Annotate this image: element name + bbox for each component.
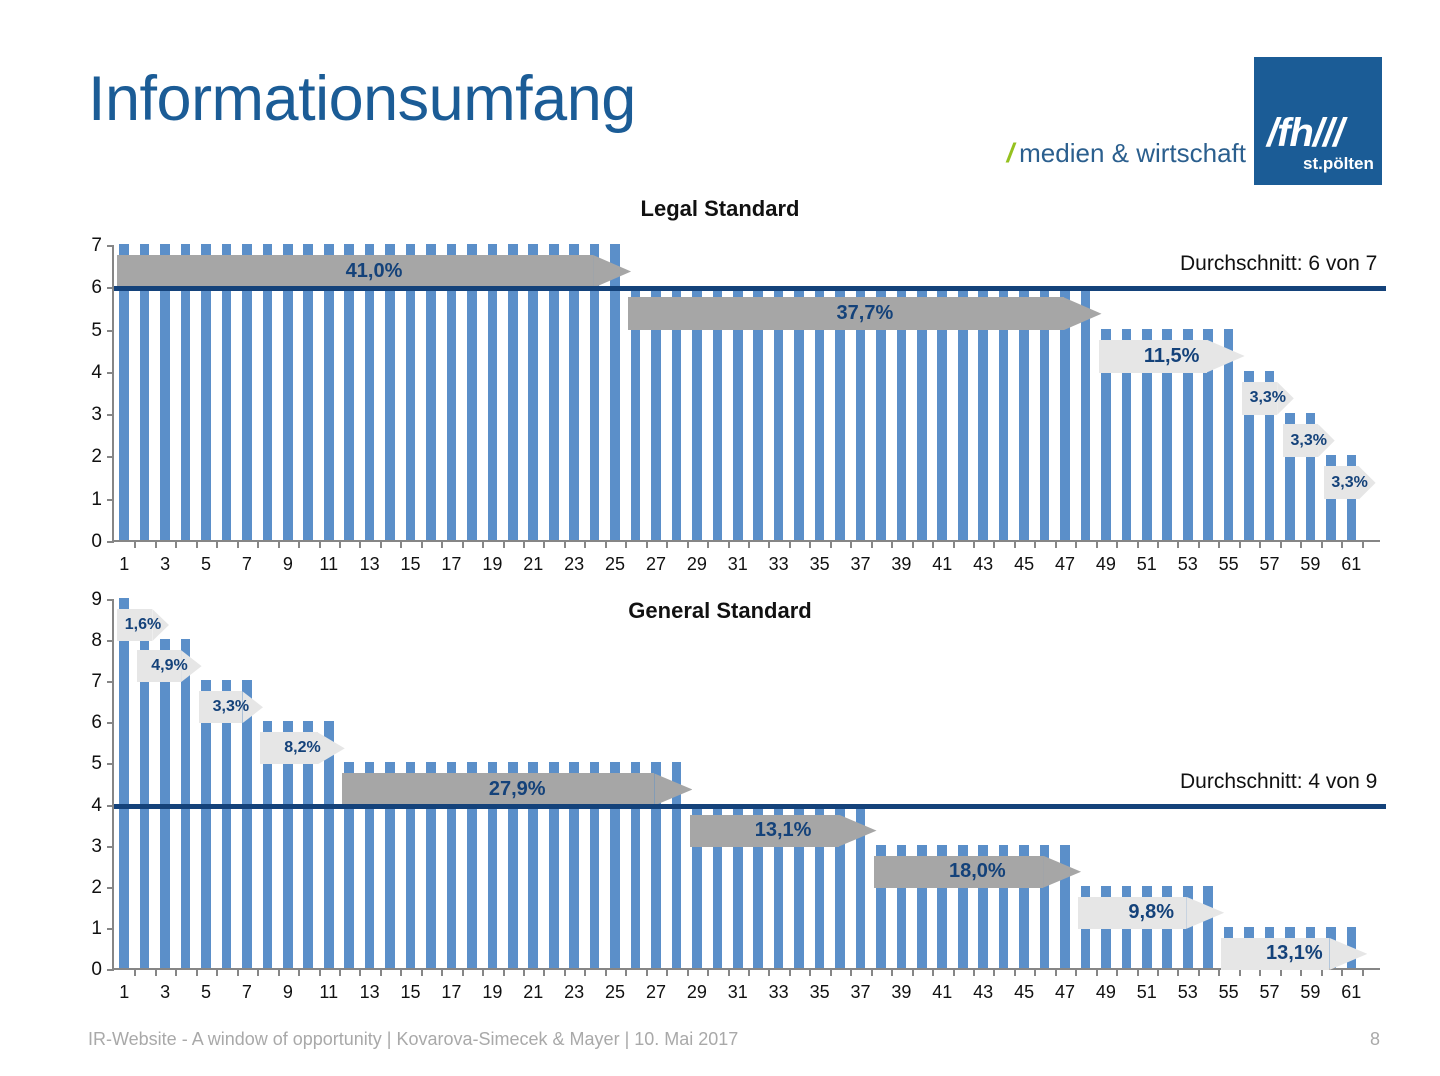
x-axis-tick-label: 29 — [687, 554, 707, 575]
x-axis-tick-mark — [196, 968, 198, 976]
page-title: Informationsumfang — [88, 66, 636, 132]
x-axis-tick-mark — [257, 968, 259, 976]
x-axis-tick-mark — [912, 540, 914, 548]
x-axis-tick-label: 51 — [1137, 554, 1157, 575]
x-axis-tick-mark — [257, 540, 259, 548]
x-axis-tick-label: 45 — [1014, 554, 1034, 575]
x-axis-tick-mark — [1055, 968, 1057, 976]
x-axis-tick-mark — [728, 968, 730, 976]
y-axis-tick-mark — [107, 969, 114, 971]
x-axis-tick-mark — [216, 540, 218, 548]
x-axis-tick-label: 39 — [891, 554, 911, 575]
x-axis-tick-label: 41 — [932, 982, 952, 1003]
slide: Informationsumfang / medien & wirtschaft… — [0, 0, 1440, 1076]
x-axis-tick-mark — [380, 968, 382, 976]
x-axis-tick-label: 33 — [769, 554, 789, 575]
y-axis-tick-mark — [107, 763, 114, 765]
x-axis-tick-label: 53 — [1178, 554, 1198, 575]
y-axis-tick-mark — [107, 681, 114, 683]
percentage-label: 4,9% — [151, 657, 187, 675]
x-axis-tick-label: 57 — [1260, 554, 1280, 575]
arrow-head-icon — [839, 815, 877, 847]
x-axis-tick-mark — [1177, 968, 1179, 976]
percentage-callout-arrow: 3,3% — [199, 691, 263, 723]
chart-legal-standard: Legal Standard 01234567 1357911131517192… — [0, 196, 1440, 586]
x-axis-tick-mark — [1362, 540, 1364, 548]
x-axis-tick-mark — [543, 968, 545, 976]
x-axis-tick-mark — [134, 540, 136, 548]
x-axis-tick-label: 13 — [360, 554, 380, 575]
x-axis-tick-mark — [175, 540, 177, 548]
page-number: 8 — [1370, 1029, 1380, 1050]
x-axis-tick-mark — [1034, 968, 1036, 976]
x-axis-tick-mark — [809, 540, 811, 548]
y-axis-tick-mark — [107, 722, 114, 724]
y-axis-tick-mark — [107, 887, 114, 889]
x-axis-tick-mark — [1218, 540, 1220, 548]
x-axis-tick-label: 3 — [160, 982, 170, 1003]
percentage-callout-arrow: 3,3% — [1283, 424, 1335, 457]
x-axis-tick-mark — [482, 540, 484, 548]
x-axis-tick-mark — [1280, 540, 1282, 548]
x-axis-tick-label: 7 — [242, 982, 252, 1003]
x-axis-tick-mark — [237, 540, 239, 548]
percentage-callout-arrow: 9,8% — [1078, 897, 1224, 929]
x-axis-tick-label: 35 — [810, 554, 830, 575]
x-axis-tick-label: 55 — [1219, 554, 1239, 575]
y-axis-tick-mark — [107, 372, 114, 374]
x-axis-tick-mark — [216, 968, 218, 976]
percentage-callout-arrow: 8,2% — [260, 732, 345, 764]
x-axis-tick-mark — [666, 968, 668, 976]
percentage-label: 3,3% — [213, 698, 249, 716]
x-axis-tick-mark — [707, 540, 709, 548]
x-axis-tick-mark — [462, 968, 464, 976]
x-axis-tick-mark — [421, 540, 423, 548]
percentage-label: 37,7% — [837, 302, 894, 325]
x-axis-tick-mark — [523, 968, 525, 976]
x-axis-tick-mark — [1116, 968, 1118, 976]
x-axis-tick-label: 55 — [1219, 982, 1239, 1003]
percentage-callout-arrow: 1,6% — [117, 609, 169, 641]
x-axis-tick-mark — [891, 540, 893, 548]
x-axis-tick-mark — [1137, 968, 1139, 976]
percentage-label: 41,0% — [346, 260, 403, 283]
x-axis-tick-label: 33 — [769, 982, 789, 1003]
x-axis-tick-label: 61 — [1341, 982, 1361, 1003]
x-axis-tick-label: 27 — [646, 982, 666, 1003]
x-axis-tick-mark — [687, 968, 689, 976]
x-axis-tick-label: 9 — [283, 554, 293, 575]
percentage-callout-arrow: 13,1% — [690, 815, 877, 847]
x-axis-tick-mark — [953, 540, 955, 548]
x-axis-tick-mark — [155, 540, 157, 548]
x-axis-tick-mark — [891, 968, 893, 976]
percentage-label: 13,1% — [755, 819, 812, 842]
x-axis-tick-mark — [482, 968, 484, 976]
x-axis-tick-mark — [1239, 540, 1241, 548]
x-axis-tick-label: 21 — [523, 554, 543, 575]
x-axis-tick-mark — [912, 968, 914, 976]
percentage-label: 3,3% — [1331, 474, 1367, 492]
percentage-callout-arrow: 37,7% — [628, 297, 1101, 330]
x-axis-tick-mark — [789, 968, 791, 976]
y-axis-tick-mark — [107, 805, 114, 807]
x-axis-tick-mark — [278, 540, 280, 548]
x-axis-tick-label: 15 — [401, 982, 421, 1003]
bar — [201, 680, 211, 968]
x-axis-tick-label: 59 — [1300, 982, 1320, 1003]
percentage-callout-arrow: 41,0% — [117, 255, 631, 288]
x-axis-tick-label: 11 — [319, 554, 338, 575]
x-axis-tick-mark — [993, 540, 995, 548]
percentage-callout-arrow: 3,3% — [1242, 382, 1294, 415]
green-slash-icon: / — [1007, 138, 1015, 169]
x-axis-tick-mark — [543, 540, 545, 548]
x-axis-tick-label: 1 — [119, 554, 129, 575]
x-axis-tick-mark — [646, 540, 648, 548]
bar — [242, 680, 252, 968]
x-axis-tick-mark — [1300, 540, 1302, 548]
arrow-head-icon — [654, 773, 692, 805]
percentage-label: 9,8% — [1128, 901, 1174, 924]
x-axis-tick-label: 23 — [564, 554, 584, 575]
x-axis-tick-label: 25 — [605, 982, 625, 1003]
x-axis-tick-mark — [319, 540, 321, 548]
x-axis-tick-mark — [462, 540, 464, 548]
x-axis-tick-mark — [441, 968, 443, 976]
percentage-callout-arrow: 11,5% — [1099, 340, 1245, 373]
x-axis-tick-label: 49 — [1096, 982, 1116, 1003]
footer-text: IR-Website - A window of opportunity | K… — [88, 1029, 738, 1050]
percentage-callout-arrow: 27,9% — [342, 773, 693, 805]
arrow-head-icon — [318, 732, 345, 764]
x-axis-tick-label: 23 — [564, 982, 584, 1003]
y-axis-tick-mark — [107, 414, 114, 416]
chart-general-standard: General Standard 0123456789 135791113151… — [0, 590, 1440, 990]
x-axis-tick-mark — [175, 968, 177, 976]
x-axis-tick-mark — [584, 540, 586, 548]
x-axis-tick-mark — [196, 540, 198, 548]
y-axis-tick-mark — [107, 846, 114, 848]
bar — [222, 680, 232, 968]
percentage-label: 27,9% — [489, 778, 546, 801]
x-axis-tick-label: 39 — [891, 982, 911, 1003]
x-axis-tick-label: 37 — [850, 982, 870, 1003]
arrow-head-icon — [1064, 297, 1102, 330]
x-axis-tick-mark — [768, 968, 770, 976]
x-axis-tick-mark — [319, 968, 321, 976]
x-axis-tick-label: 7 — [242, 554, 252, 575]
x-axis-tick-mark — [564, 540, 566, 548]
percentage-label: 13,1% — [1266, 942, 1323, 965]
chart-title-0: Legal Standard — [0, 196, 1440, 222]
x-axis-tick-mark — [1341, 540, 1343, 548]
x-axis-tick-label: 21 — [523, 982, 543, 1003]
plot-area-0: 01234567 1357911131517192123252729313335… — [112, 246, 1380, 542]
x-axis-tick-mark — [400, 540, 402, 548]
y-axis-tick-mark — [107, 640, 114, 642]
x-axis-tick-mark — [666, 540, 668, 548]
x-axis-tick-label: 35 — [810, 982, 830, 1003]
average-line — [114, 804, 1386, 809]
x-axis-tick-label: 31 — [728, 554, 748, 575]
x-axis-tick-label: 19 — [482, 554, 502, 575]
arrow-head-icon — [1043, 856, 1081, 888]
percentage-label: 11,5% — [1144, 345, 1200, 368]
x-axis-tick-mark — [789, 540, 791, 548]
x-axis-tick-mark — [278, 968, 280, 976]
x-axis-tick-label: 59 — [1300, 554, 1320, 575]
y-axis-tick-mark — [107, 599, 114, 601]
logo-mark-text: /fh/// — [1267, 113, 1343, 153]
x-axis-tick-mark — [421, 968, 423, 976]
y-axis-tick-mark — [107, 330, 114, 332]
x-axis-tick-label: 47 — [1055, 982, 1075, 1003]
percentage-callout-arrow: 3,3% — [1324, 466, 1376, 499]
x-axis-tick-label: 41 — [932, 554, 952, 575]
logo-tagline: / medien & wirtschaft — [1007, 138, 1246, 169]
x-axis-tick-label: 11 — [319, 982, 338, 1003]
x-axis-tick-label: 43 — [973, 982, 993, 1003]
x-axis-tick-label: 15 — [401, 554, 421, 575]
percentage-label: 3,3% — [1250, 389, 1286, 407]
x-axis-tick-mark — [1116, 540, 1118, 548]
x-axis-tick-mark — [359, 540, 361, 548]
x-axis-tick-label: 19 — [482, 982, 502, 1003]
x-axis-tick-mark — [625, 540, 627, 548]
percentage-label: 1,6% — [125, 616, 161, 634]
x-axis-tick-mark — [523, 540, 525, 548]
x-axis-tick-label: 51 — [1137, 982, 1157, 1003]
x-axis-tick-mark — [830, 540, 832, 548]
x-axis-tick-label: 25 — [605, 554, 625, 575]
x-axis-tick-label: 5 — [201, 982, 211, 1003]
x-axis-tick-mark — [564, 968, 566, 976]
x-axis-tick-mark — [400, 968, 402, 976]
x-axis-tick-label: 43 — [973, 554, 993, 575]
x-axis-tick-mark — [1096, 968, 1098, 976]
x-axis-tick-mark — [768, 540, 770, 548]
x-axis-tick-label: 47 — [1055, 554, 1075, 575]
x-axis-tick-mark — [646, 968, 648, 976]
x-axis-tick-label: 13 — [360, 982, 380, 1003]
x-axis-tick-mark — [748, 540, 750, 548]
x-axis-tick-mark — [503, 540, 505, 548]
x-axis-tick-mark — [1137, 540, 1139, 548]
x-axis-tick-mark — [973, 540, 975, 548]
y-axis-tick-mark — [107, 928, 114, 930]
x-axis-tick-mark — [1034, 540, 1036, 548]
bar — [119, 598, 129, 968]
arrow-head-icon — [593, 255, 631, 288]
x-axis-tick-mark — [973, 968, 975, 976]
x-axis-tick-mark — [871, 968, 873, 976]
percentage-label: 3,3% — [1290, 432, 1326, 450]
x-axis-tick-label: 37 — [850, 554, 870, 575]
logo-box: /fh/// st.pölten — [1254, 57, 1382, 185]
x-axis-tick-mark — [1157, 540, 1159, 548]
x-axis-tick-mark — [1014, 968, 1016, 976]
x-axis-tick-mark — [728, 540, 730, 548]
x-axis-tick-label: 17 — [441, 554, 461, 575]
x-axis-tick-mark — [809, 968, 811, 976]
x-axis-tick-label: 27 — [646, 554, 666, 575]
x-axis-tick-mark — [830, 968, 832, 976]
x-axis-tick-mark — [584, 968, 586, 976]
x-axis-tick-mark — [1157, 968, 1159, 976]
percentage-label: 8,2% — [284, 739, 320, 757]
x-axis-tick-mark — [932, 540, 934, 548]
x-axis-tick-mark — [1055, 540, 1057, 548]
x-axis-tick-label: 57 — [1260, 982, 1280, 1003]
x-axis-tick-mark — [134, 968, 136, 976]
x-axis-tick-mark — [625, 968, 627, 976]
x-axis-tick-mark — [850, 540, 852, 548]
x-axis-tick-mark — [1075, 540, 1077, 548]
x-axis-tick-mark — [298, 540, 300, 548]
x-axis-tick-mark — [503, 968, 505, 976]
x-axis-tick-mark — [1198, 540, 1200, 548]
x-axis-tick-mark — [441, 540, 443, 548]
logo-tagline-text: medien & wirtschaft — [1019, 138, 1246, 169]
percentage-label: 18,0% — [949, 860, 1006, 883]
x-axis-tick-label: 61 — [1341, 554, 1361, 575]
x-axis-tick-mark — [1259, 540, 1261, 548]
arrow-head-icon — [1207, 340, 1245, 373]
x-axis-tick-label: 1 — [119, 982, 129, 1003]
x-axis-tick-mark — [1096, 540, 1098, 548]
x-axis-tick-mark — [1014, 540, 1016, 548]
y-axis-tick-mark — [107, 456, 114, 458]
x-axis-tick-label: 53 — [1178, 982, 1198, 1003]
x-axis-tick-label: 17 — [441, 982, 461, 1003]
average-label-1: Durchschnitt: 4 von 9 — [1180, 770, 1377, 794]
arrow-head-icon — [1186, 897, 1224, 929]
average-label-0: Durchschnitt: 6 von 7 — [1180, 252, 1377, 276]
x-axis-tick-mark — [748, 968, 750, 976]
x-axis-tick-mark — [1198, 968, 1200, 976]
fh-st-poelten-logo: / medien & wirtschaft /fh/// st.pölten — [1007, 55, 1382, 185]
y-axis-tick-mark — [107, 541, 114, 543]
x-axis-tick-label: 5 — [201, 554, 211, 575]
x-axis-tick-mark — [605, 540, 607, 548]
x-axis-tick-mark — [1321, 540, 1323, 548]
x-axis-tick-mark — [993, 968, 995, 976]
x-axis-tick-mark — [359, 968, 361, 976]
x-axis-tick-mark — [605, 968, 607, 976]
x-axis-tick-mark — [850, 968, 852, 976]
logo-city-text: st.pölten — [1303, 153, 1374, 176]
x-axis-tick-mark — [155, 968, 157, 976]
x-axis-tick-label: 9 — [283, 982, 293, 1003]
x-axis-tick-label: 29 — [687, 982, 707, 1003]
percentage-callout-arrow: 18,0% — [874, 856, 1081, 888]
x-axis-tick-mark — [339, 540, 341, 548]
average-line — [114, 286, 1386, 291]
x-axis-tick-label: 45 — [1014, 982, 1034, 1003]
x-axis-tick-mark — [298, 968, 300, 976]
x-axis-tick-label: 31 — [728, 982, 748, 1003]
arrow-head-icon — [1329, 938, 1367, 970]
x-axis-tick-mark — [932, 968, 934, 976]
x-axis-tick-mark — [237, 968, 239, 976]
x-axis-tick-mark — [687, 540, 689, 548]
x-axis-tick-mark — [339, 968, 341, 976]
x-axis-tick-label: 3 — [160, 554, 170, 575]
x-axis-tick-mark — [953, 968, 955, 976]
x-axis-tick-mark — [871, 540, 873, 548]
x-axis-tick-mark — [1177, 540, 1179, 548]
x-axis-tick-mark — [1218, 968, 1220, 976]
y-axis-tick-mark — [107, 287, 114, 289]
percentage-callout-arrow: 13,1% — [1221, 938, 1367, 970]
x-axis-tick-label: 49 — [1096, 554, 1116, 575]
y-axis-tick-mark — [107, 245, 114, 247]
x-axis-tick-mark — [707, 968, 709, 976]
x-axis-tick-mark — [1075, 968, 1077, 976]
x-axis-tick-mark — [380, 540, 382, 548]
percentage-callout-arrow: 4,9% — [137, 650, 201, 682]
y-axis-tick-mark — [107, 499, 114, 501]
